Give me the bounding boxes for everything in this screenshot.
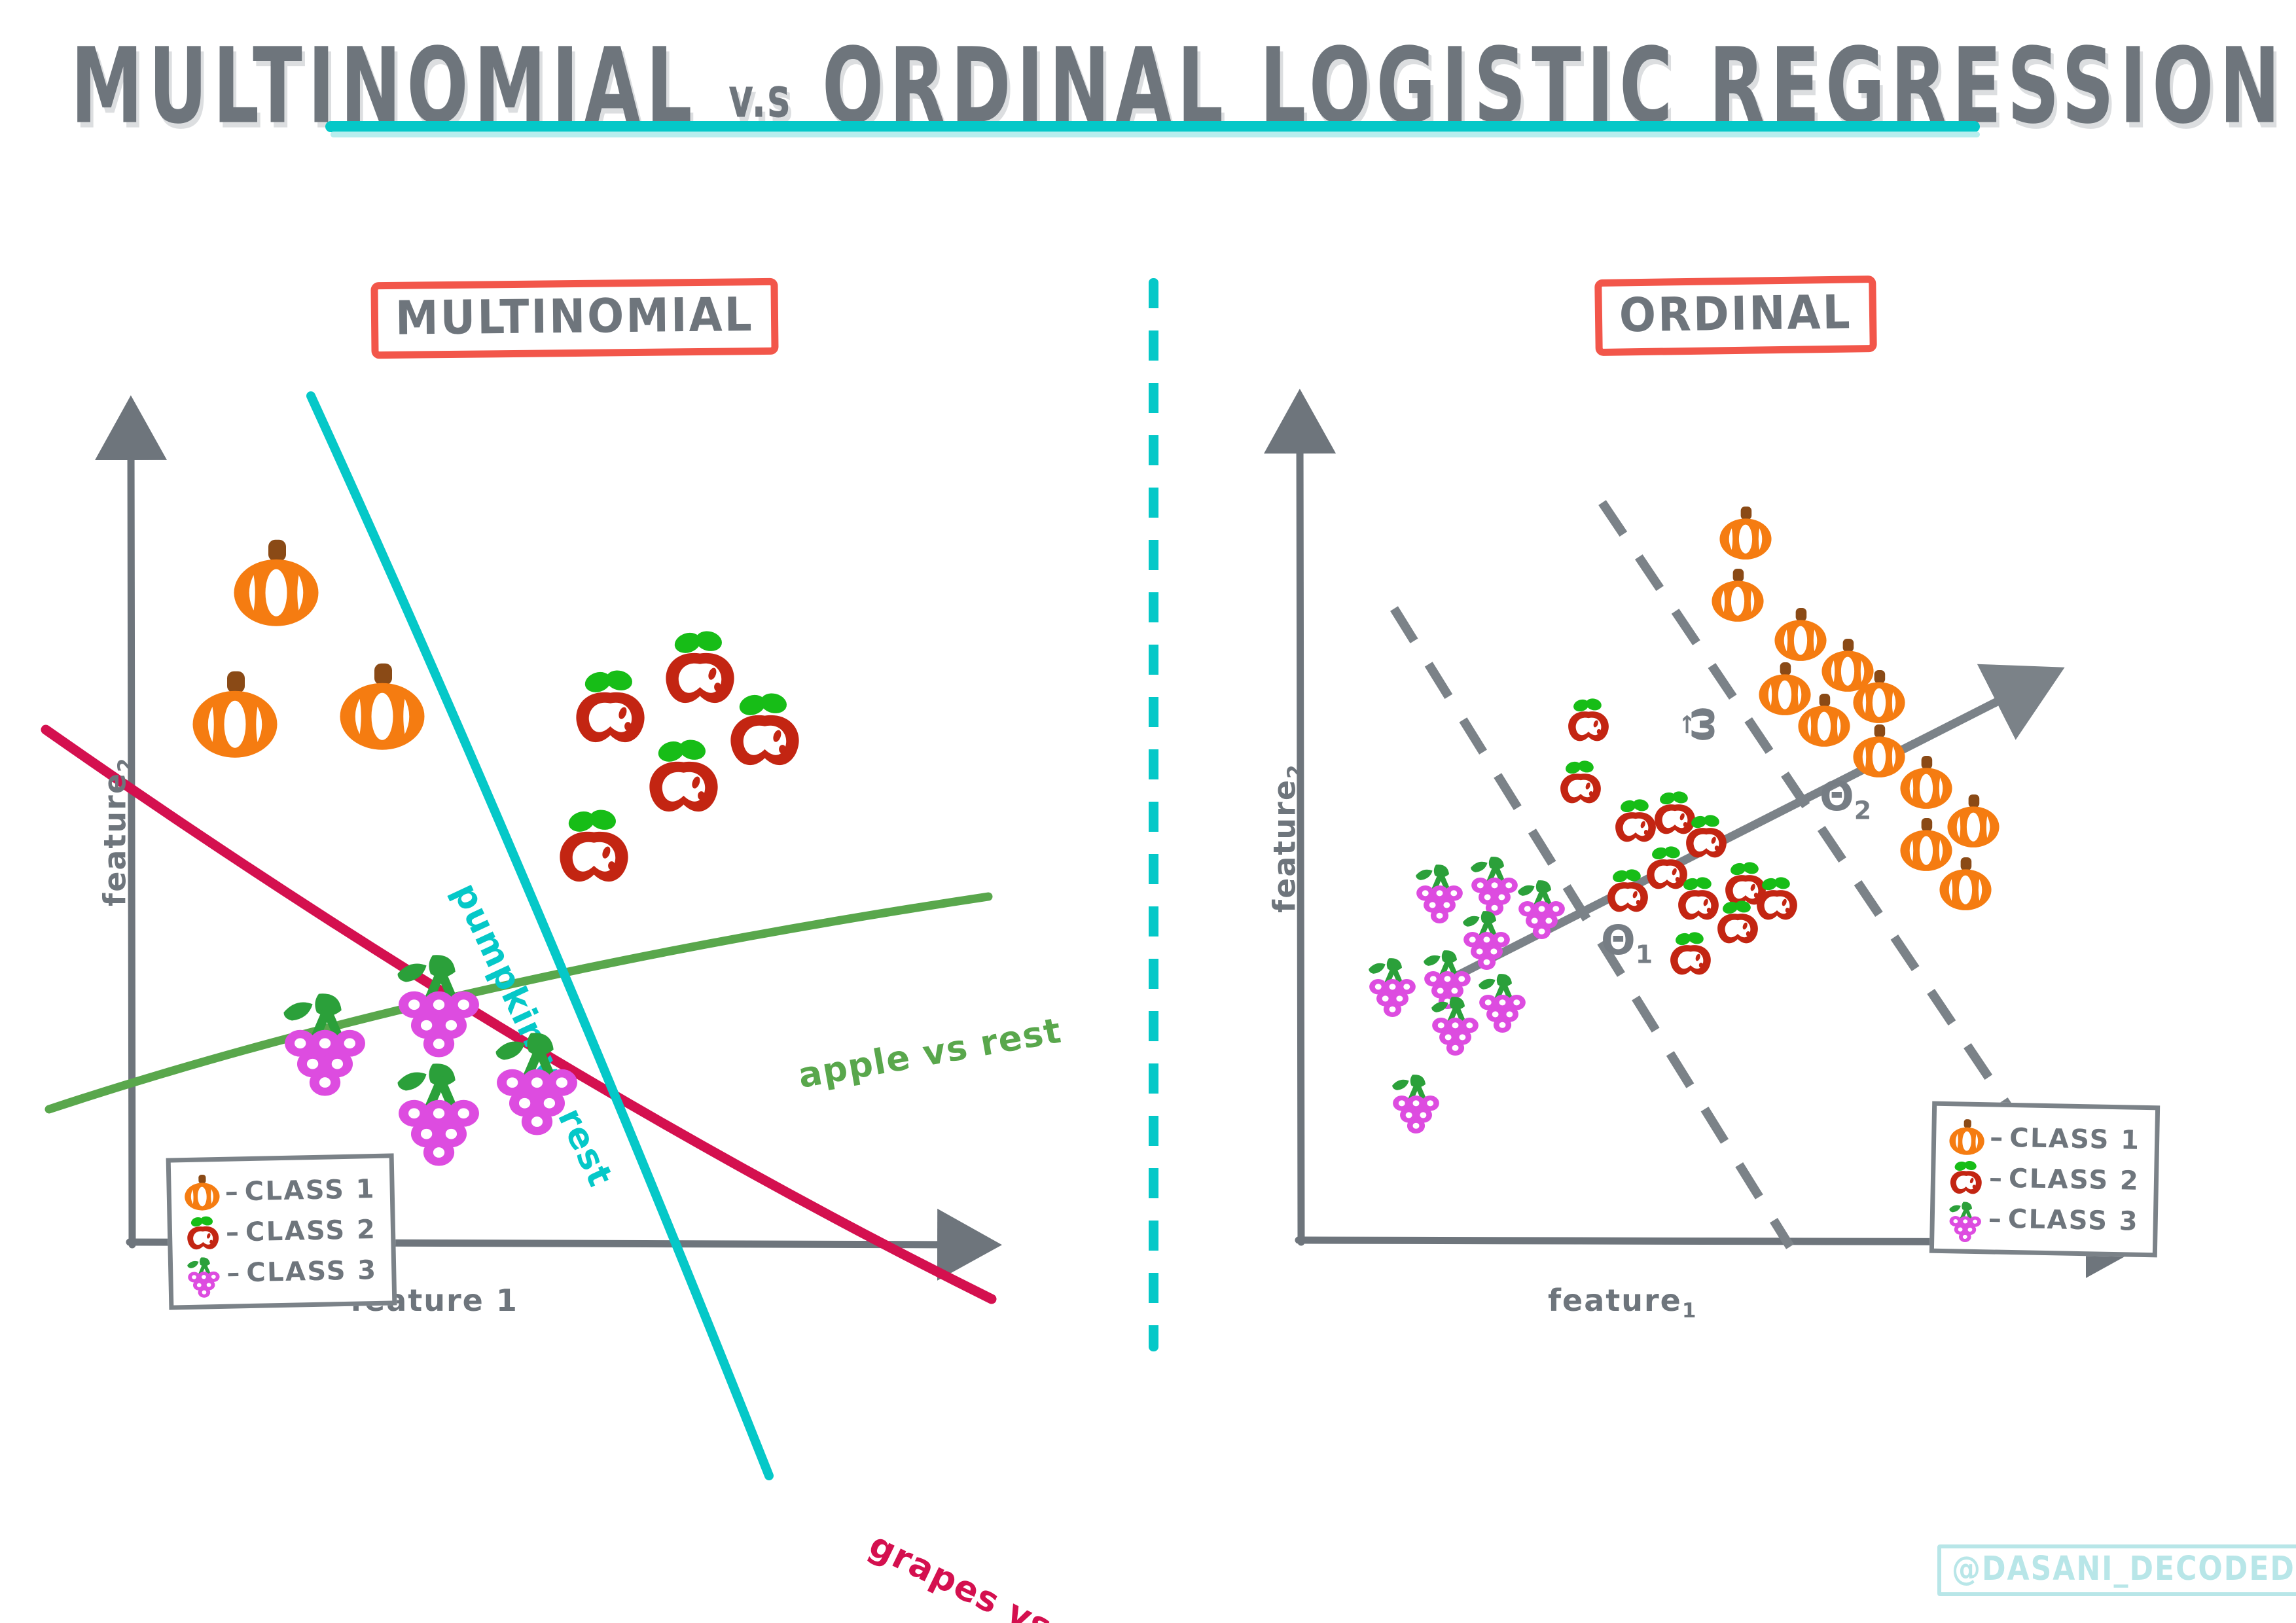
pumpkin-marker <box>1849 666 1909 730</box>
pumpkin-icon <box>227 533 325 637</box>
title-underline <box>325 121 1980 132</box>
panel-badge-multinomial: MULTINOMIAL <box>370 278 778 359</box>
pumpkin-marker <box>1943 791 2003 854</box>
apple-icon <box>639 732 728 825</box>
pumpkin-icon <box>181 1173 223 1214</box>
multinomial-legend: – CLASS 1 – CLASS 2 – CLASS 3 <box>166 1153 397 1310</box>
panel-badge-multinomial-label: MULTINOMIAL <box>395 290 754 343</box>
legend-dash: – <box>226 1217 240 1247</box>
legend-label: CLASS 2 <box>2009 1164 2140 1196</box>
grapes-marker <box>1511 876 1573 941</box>
apple-icon <box>1945 1158 1986 1199</box>
grapes-marker <box>385 947 493 1060</box>
apple-icon <box>182 1213 223 1253</box>
grapes-marker <box>483 1025 591 1138</box>
apple-marker <box>1602 865 1654 919</box>
grapes-icon <box>1511 876 1573 941</box>
direction-vector-label: ω⃗ <box>1676 707 1723 742</box>
grapes-icon <box>1361 954 1424 1019</box>
apple-icon <box>1945 1158 1986 1198</box>
legend-label: CLASS 1 <box>2009 1123 2141 1156</box>
ordinal-legend: – CLASS 1 – CLASS 2 – CLASS 3 <box>1929 1101 2161 1258</box>
left-y-axis-label: feature2 <box>98 757 137 906</box>
grapes-icon <box>183 1254 224 1294</box>
title-vs: v.s <box>728 65 791 130</box>
grapes-icon <box>385 947 493 1060</box>
pumpkin-icon <box>333 657 431 760</box>
pumpkin-marker <box>186 665 284 768</box>
watermark: @DASANI_DECODED <box>1937 1544 2296 1596</box>
apple-icon <box>1554 756 1607 811</box>
apple-icon <box>550 802 638 895</box>
grapes-marker <box>271 986 379 1099</box>
pumpkin-marker <box>333 657 431 760</box>
apple-marker <box>1554 756 1607 811</box>
apple-marker <box>550 802 638 895</box>
legend-label: CLASS 3 <box>246 1255 378 1288</box>
pumpkin-icon <box>1943 791 2003 854</box>
pumpkin-icon <box>1946 1117 1988 1158</box>
apple-icon <box>1562 694 1615 749</box>
pumpkin-icon <box>1946 1117 1988 1157</box>
apple-icon <box>1712 896 1764 951</box>
pumpkin-marker <box>1708 565 1768 628</box>
legend-item: – CLASS 1 <box>1946 1116 2141 1161</box>
boundary-label-grapes-vs-rest: grapes vs rest <box>863 1525 1144 1623</box>
legend-label: CLASS 1 <box>244 1174 376 1207</box>
legend-item: – CLASS 2 <box>1945 1157 2140 1202</box>
legend-label: CLASS 3 <box>2007 1204 2139 1237</box>
apple-icon <box>1602 865 1654 919</box>
apple-marker <box>1562 694 1615 749</box>
legend-label: CLASS 2 <box>245 1215 377 1247</box>
legend-item: – CLASS 3 <box>183 1250 378 1294</box>
grapes-icon <box>1385 1070 1447 1135</box>
apple-icon <box>182 1213 223 1255</box>
pumpkin-marker <box>1715 503 1776 566</box>
legend-dash: – <box>226 1258 240 1288</box>
apple-marker <box>1712 896 1764 951</box>
threshold1-label: Θ1 <box>1601 916 1653 969</box>
pumpkin-marker <box>1794 690 1854 753</box>
infographic-canvas: MULTINOMIAL v.s ORDINAL LOGISTIC REGRESS… <box>0 0 2296 1623</box>
grapes-marker <box>1361 954 1424 1019</box>
pumpkin-icon <box>181 1173 223 1213</box>
apple-marker <box>639 732 728 825</box>
grapes-icon <box>1945 1198 1986 1238</box>
right-x-axis-label: feature1 <box>1548 1283 1697 1323</box>
apple-marker <box>1664 927 1717 982</box>
multinomial-chart: feature2 feature 1 pumpkin vs rest apple… <box>79 419 1139 1348</box>
panel-badge-ordinal: ORDINAL <box>1594 276 1876 356</box>
pumpkin-marker <box>1935 853 1996 917</box>
apple-icon <box>721 685 809 778</box>
pumpkin-icon <box>1794 690 1854 753</box>
grapes-marker <box>1424 992 1486 1058</box>
pumpkin-marker <box>227 533 325 637</box>
legend-item: – CLASS 3 <box>1945 1198 2139 1242</box>
pumpkin-icon <box>1935 853 1996 917</box>
grapes-icon <box>1424 992 1486 1058</box>
legend-dash: – <box>224 1177 238 1207</box>
legend-dash: – <box>1990 1122 2003 1152</box>
legend-dash: – <box>1989 1163 2003 1193</box>
legend-dash: – <box>1988 1204 2001 1234</box>
apple-marker <box>721 685 809 778</box>
right-y-axis-label: feature2 <box>1267 763 1307 912</box>
pumpkin-icon <box>186 665 284 768</box>
legend-item: – CLASS 1 <box>181 1169 376 1213</box>
apple-icon <box>1664 927 1717 982</box>
page-title: MULTINOMIAL v.s ORDINAL LOGISTIC REGRESS… <box>0 25 2296 115</box>
grapes-icon <box>385 1056 493 1169</box>
pumpkin-icon <box>1715 503 1776 566</box>
grapes-marker <box>385 1056 493 1169</box>
title-underline-shadow <box>331 132 1980 137</box>
pumpkin-icon <box>1849 666 1909 730</box>
grapes-icon <box>271 986 379 1099</box>
grapes-icon <box>183 1254 224 1299</box>
grapes-icon <box>1945 1198 1986 1243</box>
panel-divider <box>1149 278 1158 1351</box>
legend-item: – CLASS 2 <box>182 1209 376 1254</box>
grapes-icon <box>483 1025 591 1138</box>
ordinal-chart: feature2 feature1 ω⃗ Θ1 Θ2 – CLASS 1 – <box>1270 419 2238 1348</box>
watermark-text: @DASANI_DECODED <box>1952 1550 2295 1588</box>
pumpkin-icon <box>1708 565 1768 628</box>
grapes-marker <box>1385 1070 1447 1135</box>
panel-badge-ordinal-label: ORDINAL <box>1619 288 1852 340</box>
